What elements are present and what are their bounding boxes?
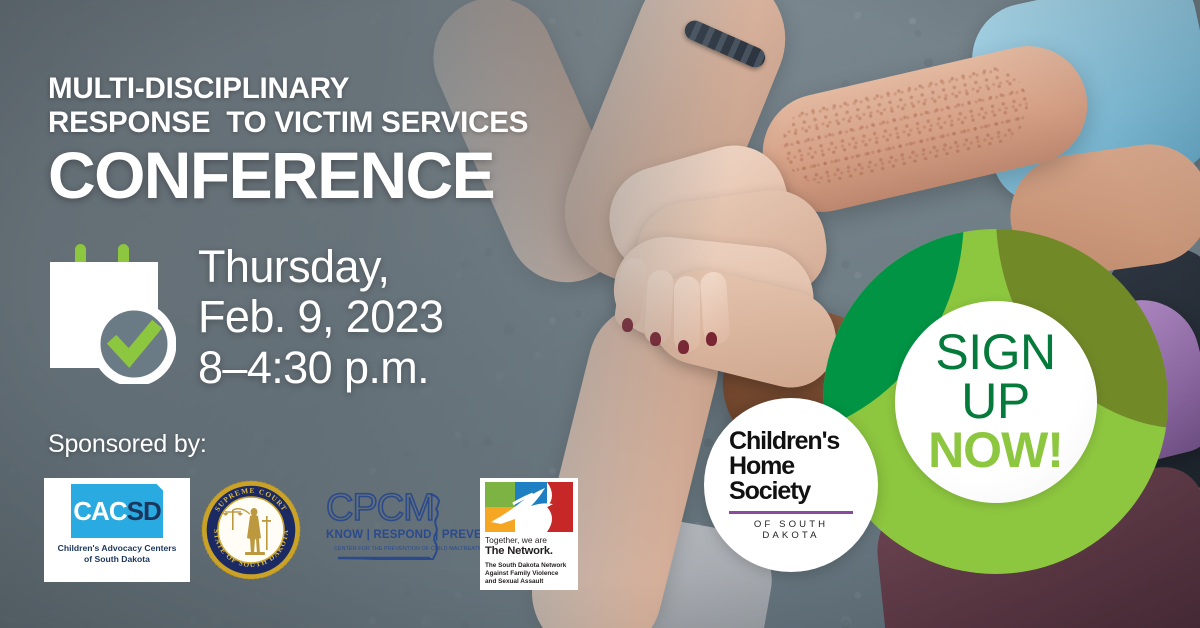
logo-the-network: Together, we are The Network. The South … (480, 478, 578, 590)
event-date-block: Thursday, Feb. 9, 2023 8–4:30 p.m. (48, 238, 444, 393)
headline-line-3: CONFERENCE (48, 144, 628, 207)
cacsd-caption: Children's Advocacy Centers of South Dak… (58, 543, 177, 564)
cpcm-full-name: CENTER FOR THE PREVENTION OF CHILD MALTR… (334, 546, 480, 552)
network-subtext-line-2: Against Family Violence (485, 570, 573, 578)
chs-name-line-1: Children's (729, 429, 853, 454)
cta-line-1: SIGN (935, 328, 1055, 376)
event-date-text: Thursday, Feb. 9, 2023 8–4:30 p.m. (198, 238, 444, 393)
network-tagline-2: The Network. (485, 545, 573, 558)
chs-subtitle: OF SOUTH DAKOTA (729, 519, 853, 541)
calendar-check-icon (48, 244, 176, 384)
network-subtext-line-3: and Sexual Assault (485, 578, 573, 586)
headline-block: MULTI-DISCIPLINARY RESPONSE TO VICTIM SE… (48, 72, 628, 208)
network-dove-art (485, 482, 573, 532)
chs-divider (729, 511, 853, 514)
cta-line-3: NOW! (928, 425, 1063, 476)
cacsd-mark-cac: CAC (73, 498, 126, 524)
headline-line-2: RESPONSE TO VICTIM SERVICES (48, 106, 628, 140)
cacsd-mark-sd: SD (127, 498, 161, 524)
network-subtext-line-1: The South Dakota Network (485, 562, 573, 570)
logo-sd-supreme-court: SUPREME COURT STATE OF SOUTH DAKOTA (190, 478, 312, 582)
chs-name-line-3: Society (729, 479, 853, 504)
banner-content: MULTI-DISCIPLINARY RESPONSE TO VICTIM SE… (0, 0, 640, 628)
logo-cacsd: CACSD Children's Advocacy Centers of Sou… (44, 478, 190, 582)
chs-name-line-2: Home (729, 454, 853, 479)
headline-line-1: MULTI-DISCIPLINARY (48, 72, 628, 106)
network-subtext: The South Dakota Network Against Family … (485, 562, 573, 586)
sign-up-badge[interactable]: SIGN UP NOW! (823, 229, 1168, 574)
badge-inner-circle[interactable]: SIGN UP NOW! (895, 301, 1097, 503)
cta-line-2: UP (961, 376, 1029, 426)
event-time: 8–4:30 p.m. (198, 343, 444, 393)
cacsd-caption-line-1: Children's Advocacy Centers (58, 543, 177, 554)
cacsd-mark: CACSD (71, 484, 163, 538)
logo-cpcm: CPCM KNOW | RESPOND | PREVENT CENTER FOR… (312, 478, 480, 582)
conference-promo-banner: MULTI-DISCIPLINARY RESPONSE TO VICTIM SE… (0, 0, 1200, 628)
event-date: Feb. 9, 2023 (198, 292, 444, 342)
sponsor-logo-row: CACSD Children's Advocacy Centers of Sou… (44, 478, 578, 590)
cpcm-tagline: KNOW | RESPOND | PREVENT (326, 529, 480, 541)
event-day: Thursday, (198, 242, 444, 292)
supreme-court-seal: SUPREME COURT STATE OF SOUTH DAKOTA (201, 480, 301, 580)
cacsd-caption-line-2: of South Dakota (58, 554, 177, 565)
sponsored-by-label: Sponsored by: (48, 430, 207, 459)
network-tagline-1: Together, we are (485, 536, 573, 545)
logo-childrens-home-society: Children's Home Society OF SOUTH DAKOTA (704, 398, 878, 572)
cpcm-mark: CPCM (326, 487, 434, 529)
